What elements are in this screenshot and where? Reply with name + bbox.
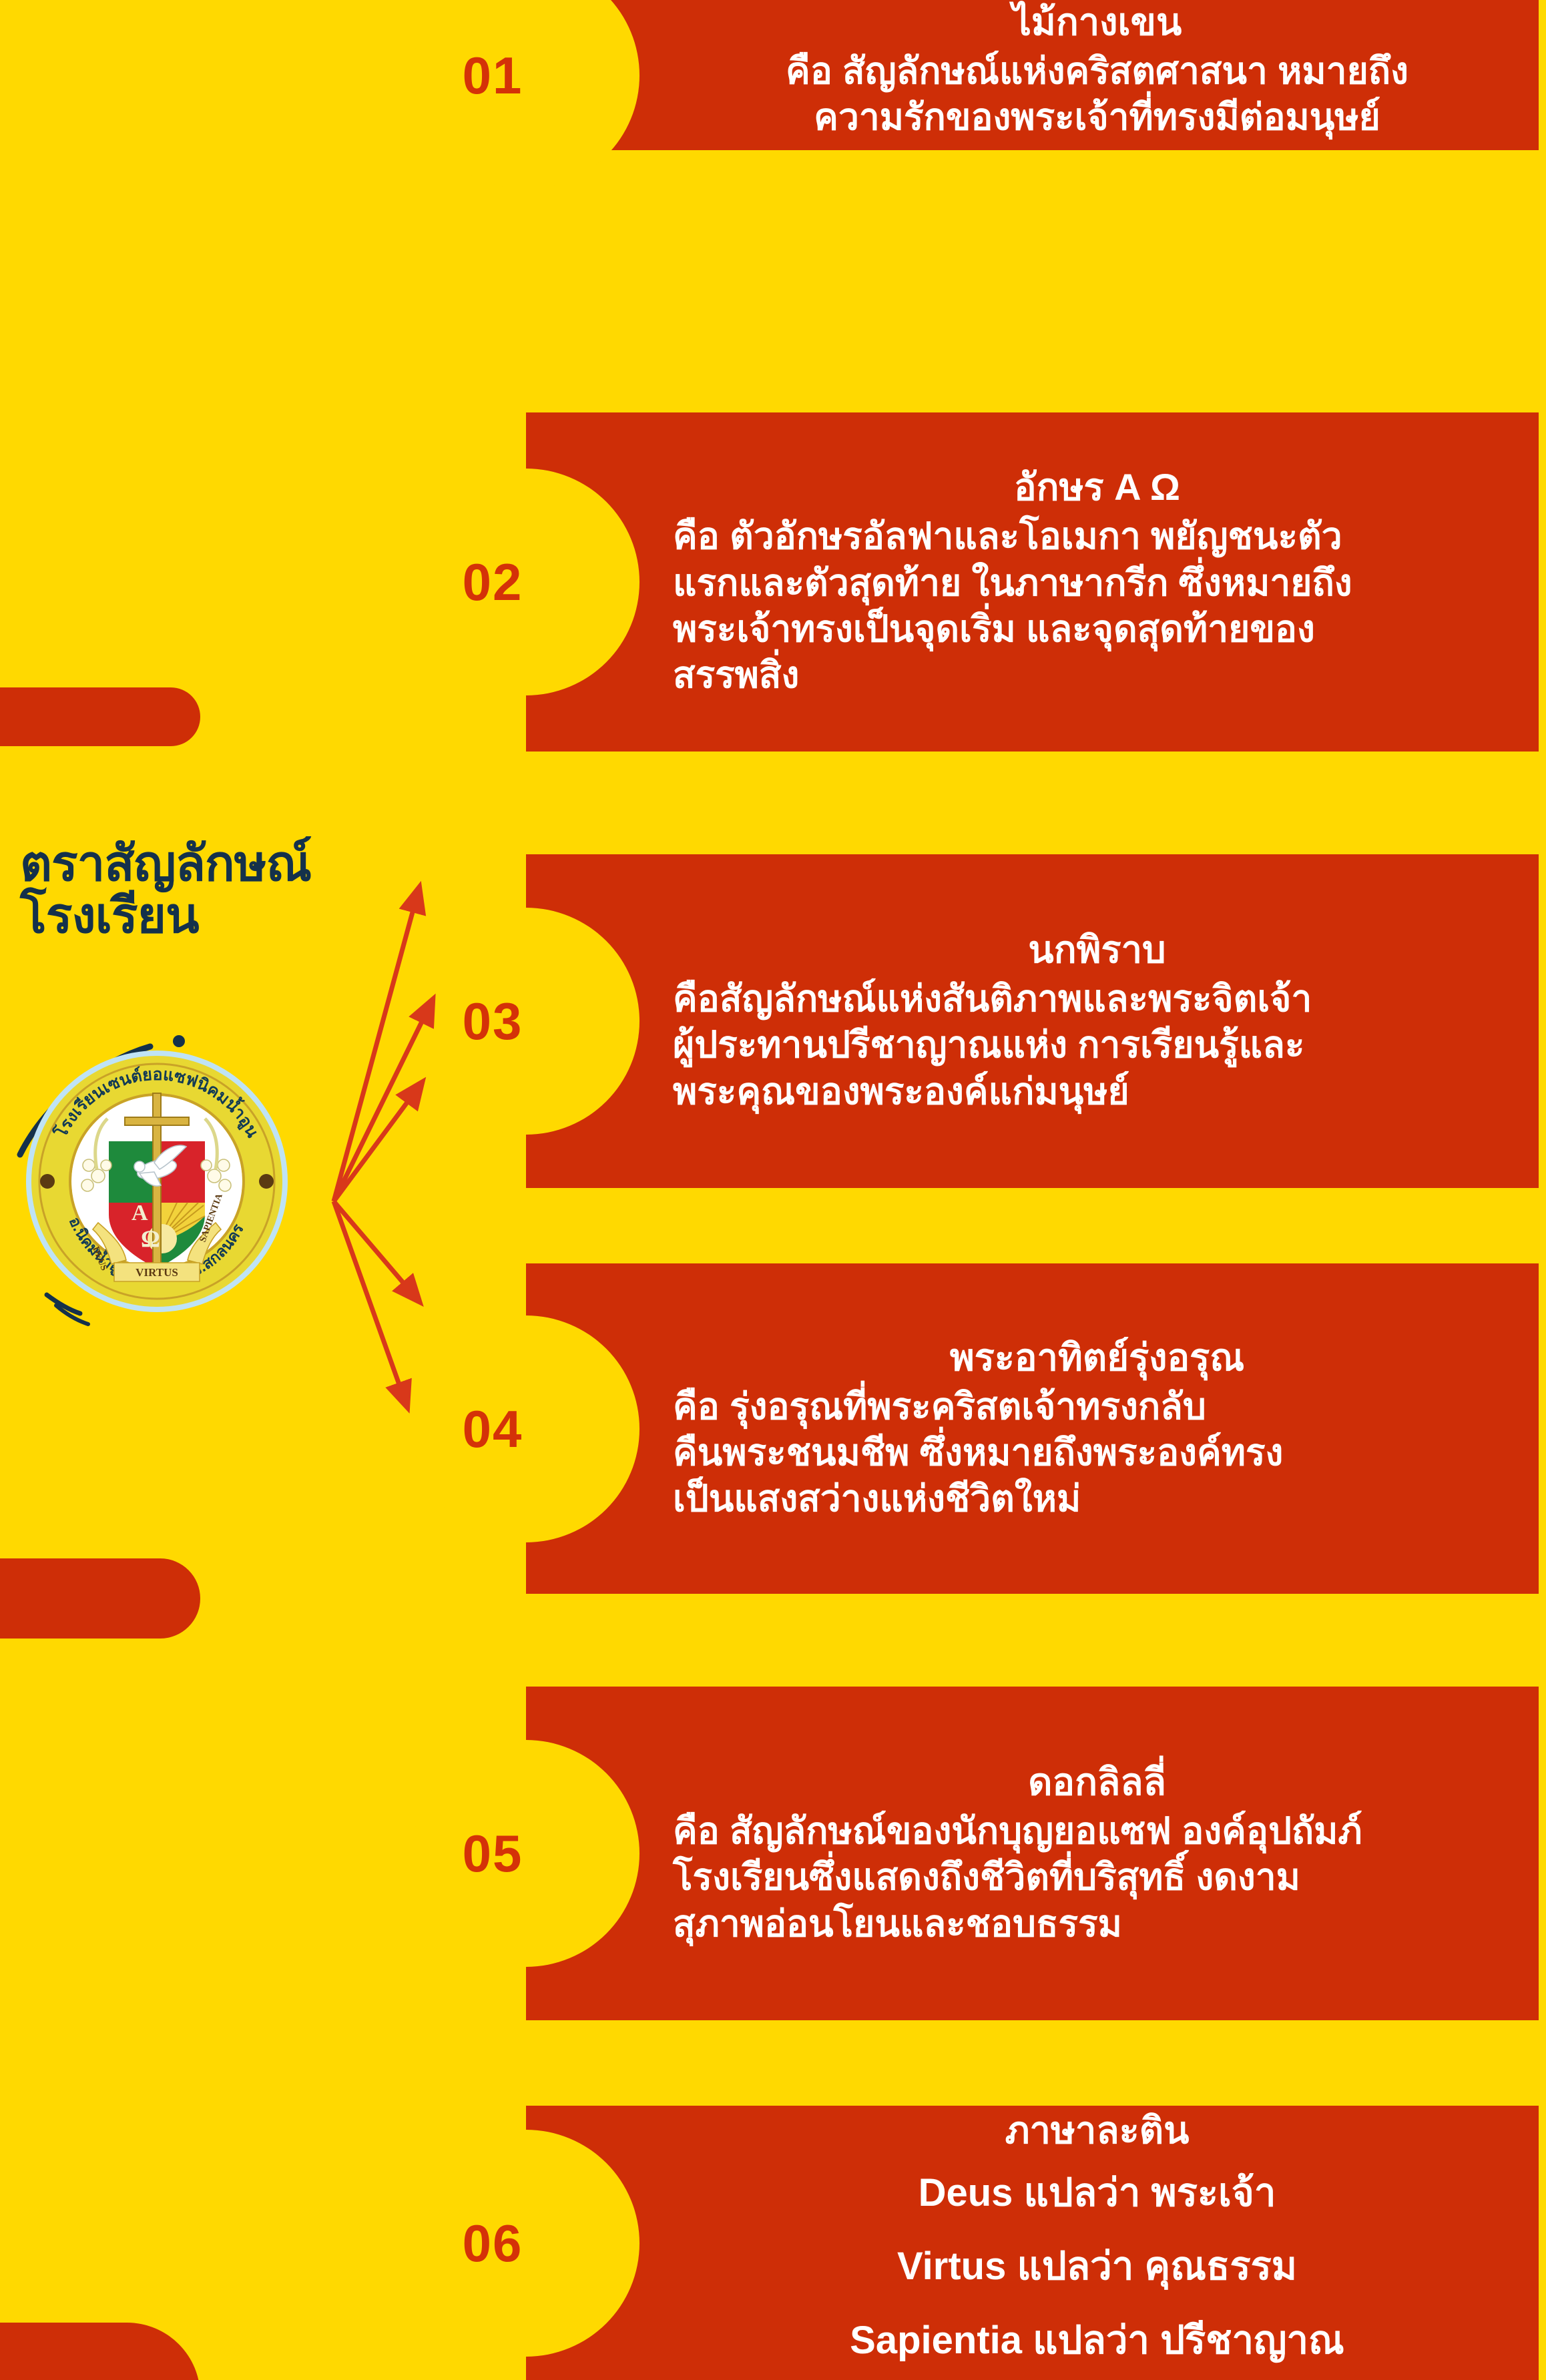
card-number: 01 (426, 49, 559, 101)
card-heading: ไม้กางเขน (673, 0, 1521, 44)
info-card[interactable]: 06 ภาษาละติน Deus แปลว่า พระเจ้า Virtus … (526, 2106, 1539, 2380)
card-heading: พระอาทิตย์รุ่งอรุณ (673, 1335, 1521, 1380)
card-latin-line: Sapientia แปลว่า ปรีชาญาณ (673, 2304, 1521, 2377)
card-number: 06 (426, 2217, 559, 2269)
card-desc-line: แรกและตัวสุดท้าย ในภาษากรีก ซึ่งหมายถึง (673, 560, 1521, 606)
card-desc-line: สุภาพอ่อนโยนและชอบธรรม (673, 1901, 1521, 1947)
infographic-stage: ตราสัญลักษณ์ โรงเรียน โรงเรียนเซนต์ยอแซฟ… (0, 0, 1546, 2380)
card-heading: ภาษาละติน (673, 2108, 1521, 2152)
info-card[interactable]: 05 ดอกลิลลี่ คือ สัญลักษณ์ของนักบุญยอแซฟ… (526, 1687, 1539, 2020)
card-heading: ดอกลิลลี่ (673, 1760, 1521, 1804)
card-desc-line: คือ ตัวอักษรอัลฟาและโอเมกา พยัญชนะตัว (673, 513, 1521, 559)
card-desc-line: ผู้ประทานปรีชาญาณแห่ง การเรียนรู้และ (673, 1022, 1521, 1068)
svg-text:VIRTUS: VIRTUS (136, 1266, 178, 1279)
decor-red-bar-bottom (0, 2323, 200, 2380)
page-title: ตราสัญลักษณ์ โรงเรียน (20, 838, 434, 942)
card-desc-line: โรงเรียนซึ่งแสดงถึงชีวิตที่บริสุทธิ์ งดง… (673, 1854, 1521, 1900)
card-desc-line: คือสัญลักษณ์แห่งสันติภาพและพระจิตเจ้า (673, 976, 1521, 1022)
decor-red-bar-upper (0, 687, 200, 746)
card-heading: นกพิราบ (673, 928, 1521, 972)
svg-text:Ω: Ω (141, 1225, 160, 1252)
card-heading: อักษร A Ω (673, 465, 1521, 509)
info-card[interactable]: 03 นกพิราบ คือสัญลักษณ์แห่งสันติภาพและพร… (526, 854, 1539, 1188)
card-desc-line: เป็นแสงสว่างแห่งชีวิตใหม่ (673, 1476, 1521, 1522)
card-body: ดอกลิลลี่ คือ สัญลักษณ์ของนักบุญยอแซฟ อง… (526, 1687, 1539, 2020)
info-card[interactable]: 02 อักษร A Ω คือ ตัวอักษรอัลฟาและโอเมกา … (526, 412, 1539, 752)
card-desc-line: คืนพระชนมชีพ ซึ่งหมายถึงพระองค์ทรง (673, 1430, 1521, 1476)
card-body: พระอาทิตย์รุ่งอรุณ คือ รุ่งอรุณที่พระคริ… (526, 1263, 1539, 1594)
card-desc-line: คือ รุ่งอรุณที่พระคริสตเจ้าทรงกลับ (673, 1384, 1521, 1430)
info-card[interactable]: 01 ไม้กางเขน คือ สัญลักษณ์แห่งคริสตศาสนา… (526, 0, 1539, 150)
card-desc-line: คือ สัญลักษณ์แห่งคริสตศาสนา หมายถึง (673, 48, 1521, 94)
card-number: 02 (426, 556, 559, 608)
card-body: ภาษาละติน Deus แปลว่า พระเจ้า Virtus แปล… (526, 2106, 1539, 2380)
card-body: ไม้กางเขน คือ สัญลักษณ์แห่งคริสตศาสนา หม… (526, 0, 1539, 150)
info-card[interactable]: 04 พระอาทิตย์รุ่งอรุณ คือ รุ่งอรุณที่พระ… (526, 1263, 1539, 1594)
card-desc-line: สรรพสิ่ง (673, 652, 1521, 698)
card-desc-line: พระคุณของพระองค์แก่มนุษย์ (673, 1069, 1521, 1115)
decor-red-bar-middle (0, 1558, 200, 1639)
svg-text:A: A (132, 1201, 148, 1225)
card-desc-line: พระเจ้าทรงเป็นจุดเริ่ม และจุดสุดท้ายของ (673, 606, 1521, 652)
page-title-line-2: โรงเรียน (20, 890, 434, 942)
card-latin-line: Deus แปลว่า พระเจ้า (673, 2156, 1521, 2230)
card-desc-line: คือ สัญลักษณ์ของนักบุญยอแซฟ องค์อุปถัมภ์ (673, 1808, 1521, 1854)
school-emblem-icon: โรงเรียนเซนต์ยอแซฟนิคมน้ำอูน อ.นิคมน้ำอู… (23, 1048, 290, 1315)
card-number: 05 (426, 1827, 559, 1879)
card-body: นกพิราบ คือสัญลักษณ์แห่งสันติภาพและพระจิ… (526, 854, 1539, 1188)
card-desc-line: ความรักของพระเจ้าที่ทรงมีต่อมนุษย์ (673, 94, 1521, 140)
card-latin-line: Virtus แปลว่า คุณธรรม (673, 2230, 1521, 2303)
page-title-line-1: ตราสัญลักษณ์ (20, 838, 434, 890)
card-body: อักษร A Ω คือ ตัวอักษรอัลฟาและโอเมกา พยั… (526, 412, 1539, 752)
